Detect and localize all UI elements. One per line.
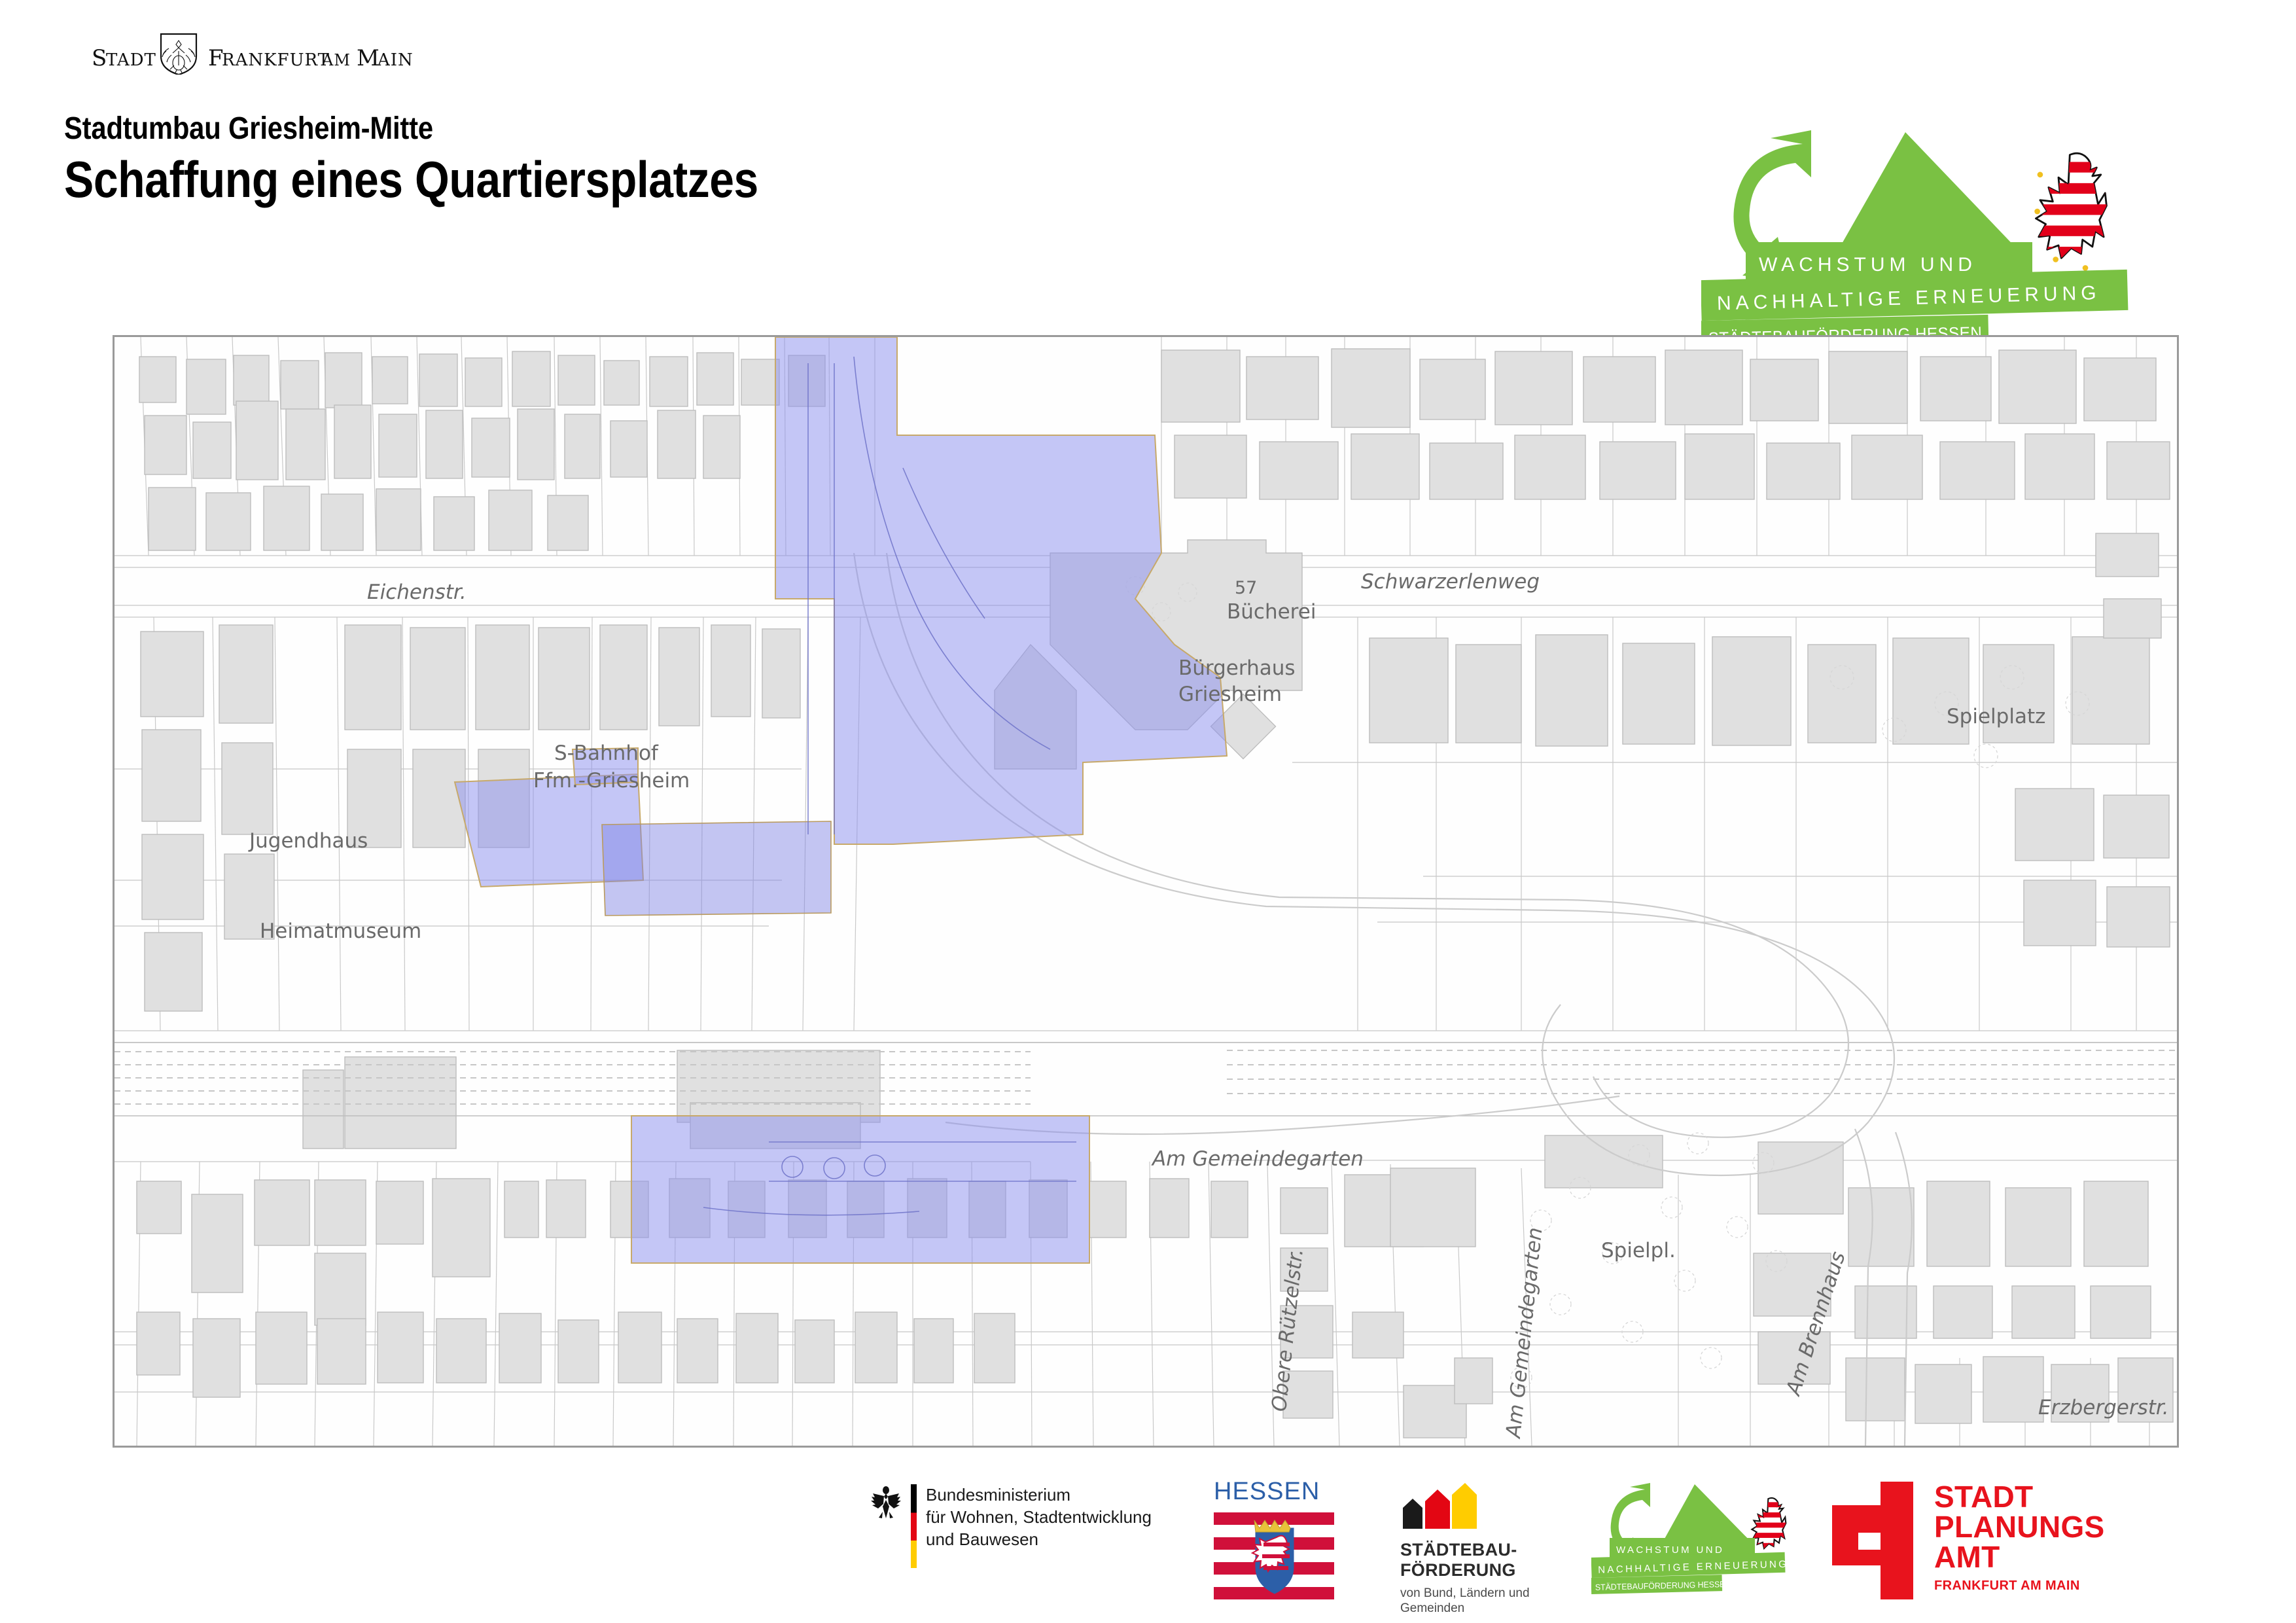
svg-text:AM: AM [321,51,351,69]
cadastral-map[interactable]: Eichenstr. Schwarzerlenweg Erzbergerstr.… [113,335,2179,1448]
footer-program-banner-3: STÄDTEBAUFÖRDERUNG HESSEN [1591,1575,1731,1594]
logo-hessen: HESSEN [1214,1478,1334,1606]
program-line-1: WACHSTUM UND [1759,254,1977,276]
footer-program-line-1: WACHSTUM UND [1616,1544,1724,1556]
federal-eagle-icon [870,1484,902,1521]
spa-line-1: STADT [1934,1482,2105,1512]
sbf-title-line-1: STÄDTEBAU- [1400,1540,1530,1560]
spa-line-2: PLANUNGS [1934,1512,2105,1542]
german-flag-bar [911,1484,917,1568]
three-houses-icon [1400,1482,1479,1529]
bmwsb-line-3: und Bauwesen [926,1529,1152,1551]
sbf-sub-line-1: von Bund, Ländern und [1400,1586,1530,1601]
svg-text:TADT: TADT [106,50,156,70]
hessen-lion-icon [2023,153,2122,271]
logo-bundesministerium: Bundesministerium für Wohnen, Stadtentwi… [870,1484,1152,1568]
spa-subline: FRANKFURT AM MAIN [1934,1578,2105,1594]
bmwsb-line-1: Bundesministerium [926,1484,1152,1507]
bmwsb-line-2: für Wohnen, Stadtentwicklung [926,1507,1152,1529]
logo-stadtplanungsamt: STADT PLANUNGS AMT FRANKFURT AM MAIN [1832,1482,2105,1599]
sbf-sub-line-2: Gemeinden [1400,1601,1530,1616]
city-logo: S TADT F RANKFURT AM M AIN [92,31,510,75]
svg-text:S: S [92,45,107,71]
sbf-title-line-2: FÖRDERUNG [1400,1560,1530,1580]
logo-staedtebaufoerderung: STÄDTEBAU- FÖRDERUNG von Bund, Ländern u… [1400,1482,1530,1616]
title-block: Stadtumbau Griesheim-Mitte Schaffung ein… [64,113,1569,207]
hessen-coat-of-arms-icon [1214,1511,1334,1603]
map-drawing [115,337,2177,1446]
svg-text:M: M [357,45,380,71]
frankfurt-eagle-crest-icon: S TADT F RANKFURT AM M AIN [92,31,510,75]
logo-wachstum-erneuerung: WACHSTUM UND NACHHALTIGE ERNEUERUNG STÄD… [1591,1482,1788,1609]
subtitle: Stadtumbau Griesheim-Mitte [64,113,1373,145]
hessen-wordmark: HESSEN [1214,1478,1334,1506]
page-title: Schaffung eines Quartiersplatzes [64,152,1373,207]
frankfurt-f-mark-icon [1832,1482,1913,1599]
svg-text:AIN: AIN [377,50,414,70]
svg-text:RANKFURT: RANKFURT [222,50,330,70]
footer-logo-bar: Bundesministerium für Wohnen, Stadtentwi… [0,1472,2296,1616]
spa-line-3: AMT [1934,1542,2105,1572]
